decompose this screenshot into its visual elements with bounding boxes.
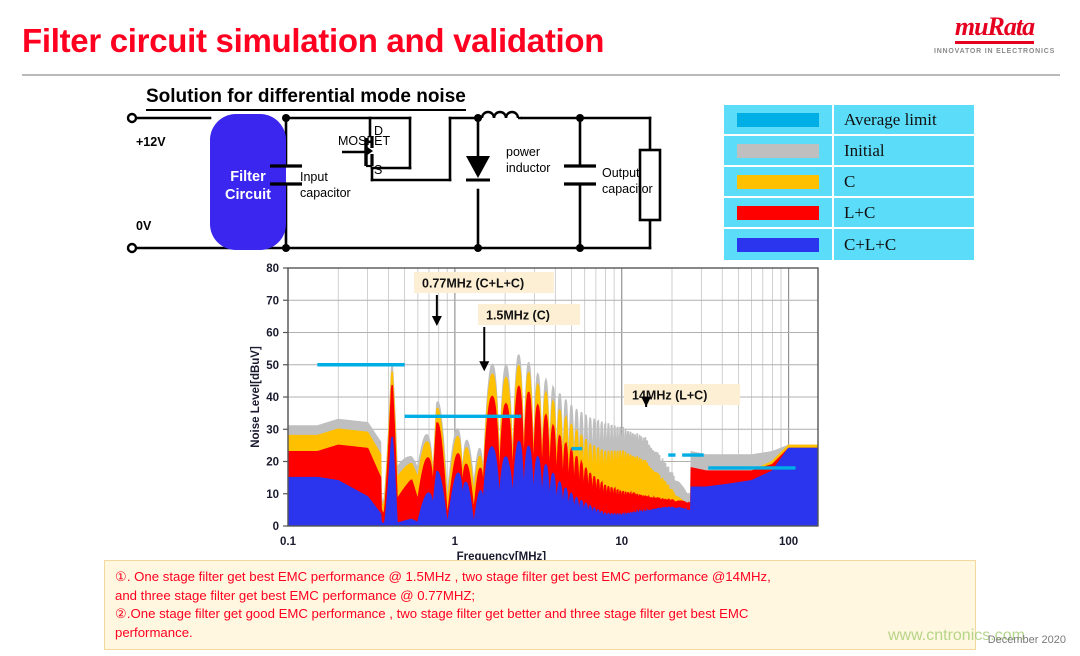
mosfet-pin-s: S [374,163,382,177]
power-inductor-label-2: inductor [506,161,550,175]
legend-item-lc: L+C [724,198,974,229]
y-axis-tick: 40 [266,392,279,404]
input-capacitor-label-1: Input [300,170,328,184]
footnote-line-4: performance. [115,624,965,643]
legend-color-swatch [737,113,819,127]
circuit-diagram: Filter Circuit +12V 0V Input capacitor M… [110,108,710,263]
legend-swatch-cell [724,198,834,227]
footnote-box: ①. One stage filter get best EMC perform… [104,560,976,650]
footnote-line-1: ①. One stage filter get best EMC perform… [115,568,965,587]
legend-color-swatch [737,238,819,252]
filter-block-label-1: Filter [230,169,266,185]
footnote-line-2: and three stage filter get best EMC perf… [115,587,965,606]
legend-item-label: Average limit [834,110,974,130]
output-capacitor-label-1: Output [602,166,640,180]
header-divider [22,74,1060,76]
annotation-label: 0.77MHz (C+L+C) [422,277,524,291]
legend-swatch-cell [724,229,834,260]
y-axis-tick: 70 [266,295,279,307]
legend-item-c: C [724,167,974,198]
legend-swatch-cell [724,136,834,165]
y-axis-tick: 10 [266,489,279,501]
brand-tagline: INNOVATOR IN ELECTRONICS [927,48,1062,55]
x-axis-tick: 0.1 [280,536,297,548]
x-axis-tick: 100 [779,536,798,548]
output-capacitor-label-2: capacitor [602,182,653,196]
slide-date: December 2020 [988,634,1066,646]
mosfet-pin-d: D [374,124,383,138]
y-axis-tick: 30 [266,424,279,436]
page-title: Filter circuit simulation and validation [22,22,604,60]
legend-color-swatch [737,144,819,158]
terminal-ground [128,244,136,252]
legend-item-initial: Initial [724,136,974,167]
input-capacitor-label-2: capacitor [300,186,351,200]
x-axis-tick: 10 [615,536,628,548]
legend-color-swatch [737,175,819,189]
legend-swatch-cell [724,167,834,196]
legend-swatch-cell [724,105,834,134]
rail-label-positive: +12V [136,135,166,149]
terminal-positive [128,114,136,122]
y-axis-tick: 60 [266,328,279,340]
y-axis-tick: 80 [266,263,279,275]
chart-legend: Average limit Initial C L+C C+L+C [724,105,974,260]
annotation-label: 1.5MHz (C) [486,309,550,323]
brand-wordmark: muRata [955,14,1034,44]
legend-color-swatch [737,206,819,220]
rail-label-ground: 0V [136,219,152,233]
y-axis-title: Noise Level[dBuV] [250,346,262,448]
legend-item-label: L+C [834,203,974,223]
y-axis-tick: 50 [266,360,279,372]
y-axis-tick: 0 [273,521,279,533]
legend-item-clc: C+L+C [724,229,974,260]
legend-item-label: C+L+C [834,235,974,255]
legend-item-label: Initial [834,141,974,161]
legend-item-label: C [834,172,974,192]
power-inductor-label-1: power [506,145,540,159]
footnote-line-3: ②.One stage filter get good EMC performa… [115,605,965,624]
y-axis-tick: 20 [266,457,279,469]
noise-spectrum-chart: 010203040506070800.1110100 0.77MHz (C+L+… [246,262,846,562]
x-axis-tick: 1 [452,536,459,548]
murata-logo: muRata INNOVATOR IN ELECTRONICS [927,14,1062,55]
legend-item-average-limit: Average limit [724,105,974,136]
annotation: 14MHz (L+C) [624,384,740,407]
filter-block-label-2: Circuit [225,187,271,203]
